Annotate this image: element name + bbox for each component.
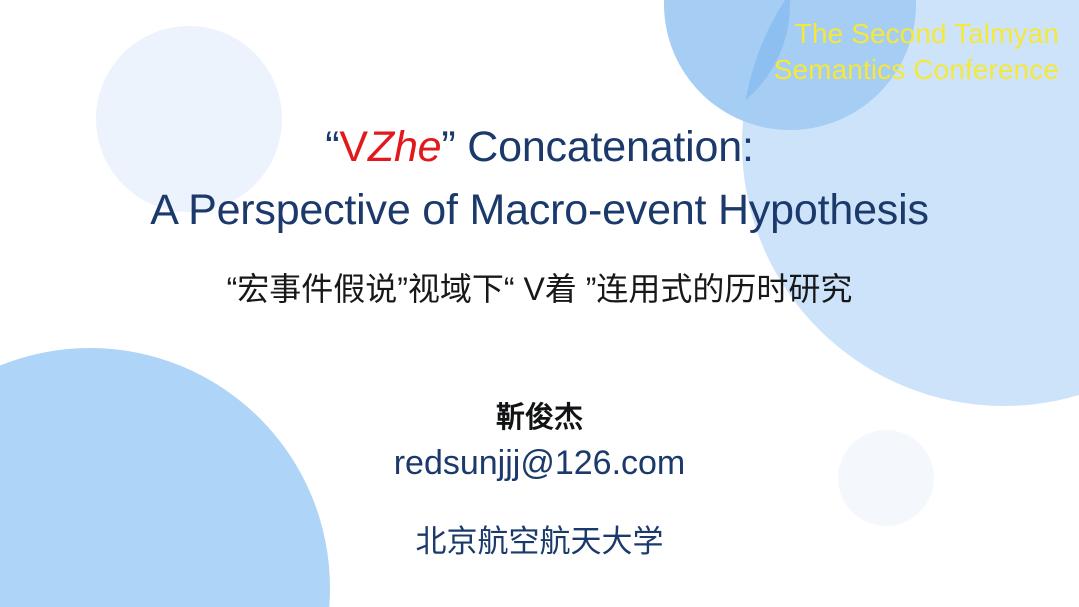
page-title: “VZhe” Concatenation: A Perspective of M… — [0, 116, 1079, 242]
author-email: redsunjjj@126.com — [0, 444, 1079, 483]
title-quote-close: ” — [441, 123, 455, 171]
title-line-2: A Perspective of Macro-event Hypothesis — [0, 179, 1079, 242]
subtitle-chinese: “宏事件假说”视域下“ V着 ”连用式的历时研究 — [0, 266, 1079, 312]
title-slide: The Second Talmyan Semantics Conference … — [0, 0, 1079, 607]
title-line-1: “VZhe” Concatenation: — [0, 116, 1079, 179]
title-quote-open: “ — [325, 123, 339, 171]
conference-name: The Second Talmyan Semantics Conference — [499, 16, 1059, 88]
author-name: 靳俊杰 — [0, 394, 1079, 436]
title-keyword-v: V — [339, 123, 367, 171]
title-keyword-zhe: Zhe — [368, 123, 442, 171]
author-affiliation: 北京航空航天大学 — [0, 516, 1079, 561]
title-line-1-rest: Concatenation: — [456, 123, 754, 171]
